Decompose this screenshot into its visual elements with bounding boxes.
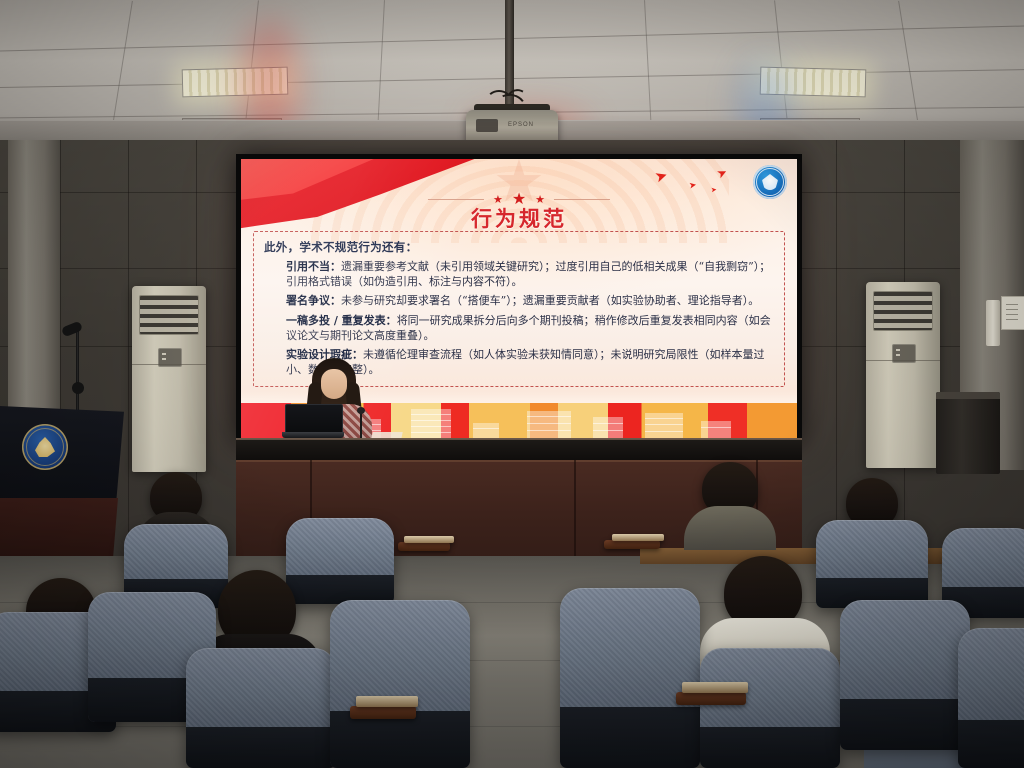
ac-grille-icon: [139, 295, 199, 335]
slide-lead-text: 此外，学术不规范行为还有：: [264, 239, 774, 255]
slide-item-3: 一稿多投 / 重复发表：将同一研究成果拆分后向多个期刊投稿；稍作修改后重复发表相…: [264, 313, 774, 343]
stage-table-edge: [236, 440, 802, 462]
seat-armrest: [350, 706, 416, 719]
seat-armrest: [604, 540, 660, 549]
title-rule-left: [428, 199, 484, 200]
podium-university-emblem-icon: [22, 424, 68, 470]
auditorium-seat[interactable]: [700, 648, 840, 768]
ac-grille-icon: [873, 291, 933, 331]
slide-item-2-term: 署名争议：: [286, 294, 341, 307]
auditorium-seat[interactable]: [958, 628, 1024, 768]
seat-writing-tablet: [612, 534, 664, 541]
seat-writing-tablet: [356, 696, 418, 707]
podium-base: [0, 498, 118, 558]
air-conditioner-right: [866, 282, 940, 468]
title-rule-right: [554, 199, 610, 200]
auditorium-seat[interactable]: [286, 518, 394, 604]
presenter-face: [321, 369, 347, 399]
slide-item-1: 引用不当：遗漏重要参考文献（未引用领域关键研究）；过度引用自己的低相关成果（“自…: [264, 259, 774, 289]
ceiling-light-left: [182, 67, 289, 98]
seat-writing-tablet: [404, 536, 454, 543]
projector-lens: [476, 119, 498, 132]
wall-speaker-box: [986, 300, 1000, 346]
seat-armrest: [398, 542, 450, 551]
slide-item-3-term: 一稿多投 / 重复发表：: [286, 314, 397, 327]
slide-item-1-text: 遗漏重要参考文献（未引用领域关键研究）；过度引用自己的低相关成果（“自我剽窃”）…: [286, 260, 770, 288]
slide-title: 行为规范: [241, 203, 797, 233]
desk-microphone: [360, 412, 362, 438]
slide-item-1-term: 引用不当：: [286, 260, 341, 273]
slide-item-2: 署名争议：未参与研究却要求署名（“搭便车”）；遗漏重要贡献者（如实验协助者、理论…: [264, 293, 774, 308]
auditorium-seat[interactable]: [186, 648, 336, 768]
slide-item-2-text: 未参与研究却要求署名（“搭便车”）；遗漏重要贡献者（如实验协助者、理论指导者）。: [341, 294, 759, 307]
seat-writing-tablet: [682, 682, 748, 693]
seat-armrest: [676, 692, 746, 705]
lecture-hall-photo: EPSON ★ ➤ ➤: [0, 0, 1024, 768]
ceiling-light-right: [760, 67, 867, 98]
laptop-screen: [285, 404, 343, 434]
air-conditioner-left: [132, 286, 206, 472]
projector-brand-label: EPSON: [508, 122, 534, 128]
presenter-laptop: [282, 404, 344, 438]
auditorium-seat[interactable]: [560, 588, 700, 768]
dove-icon-4: ➤: [711, 187, 718, 195]
university-logo-icon: [753, 165, 787, 199]
auditorium-seat[interactable]: [816, 520, 928, 608]
audience-shoulders: [684, 506, 776, 550]
dove-icon-2: ➤: [688, 180, 697, 190]
auditorium-seat[interactable]: [840, 600, 970, 750]
equipment-cabinet: [936, 392, 1000, 474]
auditorium-seat[interactable]: [330, 600, 470, 768]
microphone-stand: [76, 330, 79, 412]
wall-notice-sheet: [1001, 296, 1024, 330]
